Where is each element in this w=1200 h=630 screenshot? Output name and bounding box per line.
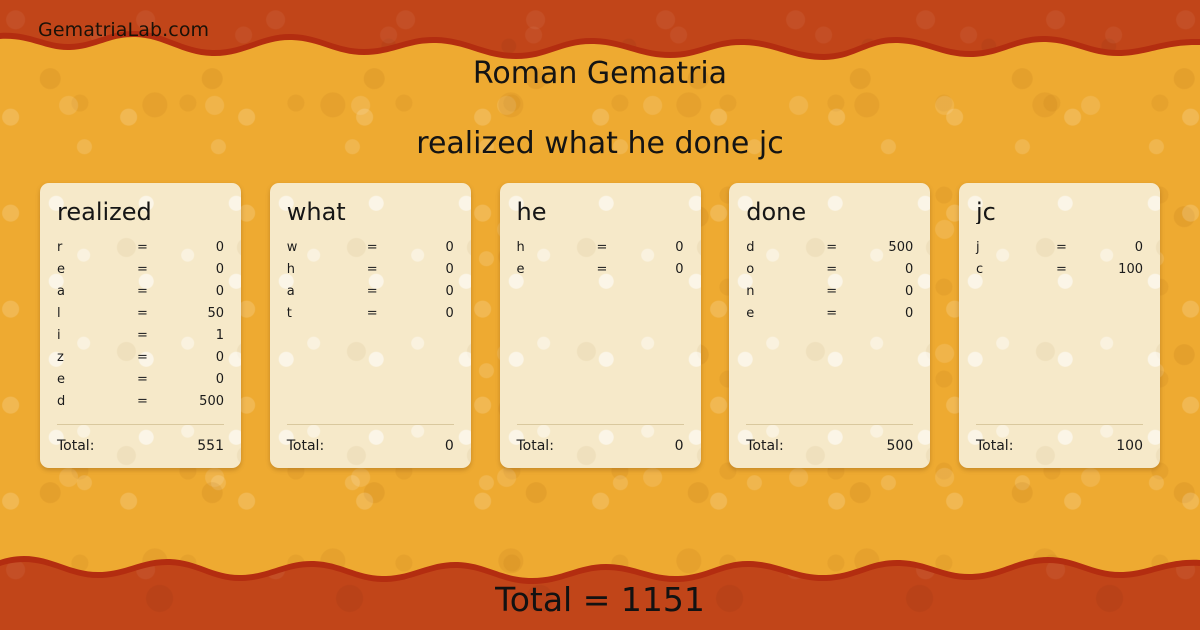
letter-value: 0 bbox=[1091, 240, 1143, 255]
letter: o bbox=[746, 262, 802, 277]
letter: w bbox=[287, 240, 343, 255]
card-total-row: Total: 0 bbox=[517, 425, 684, 468]
letter-value: 0 bbox=[861, 306, 913, 321]
letter-value: 0 bbox=[172, 372, 224, 387]
card-total-row: Total: 0 bbox=[287, 425, 454, 468]
letter-value: 0 bbox=[861, 284, 913, 299]
equals-sign: = bbox=[113, 328, 172, 343]
letter-value-row: d = 500 bbox=[57, 394, 224, 416]
letter: e bbox=[57, 372, 113, 387]
letter-value-row: r = 0 bbox=[57, 240, 224, 262]
letter-value-row: a = 0 bbox=[57, 284, 224, 306]
letter: e bbox=[746, 306, 802, 321]
equals-sign: = bbox=[113, 284, 172, 299]
letter-value: 0 bbox=[172, 350, 224, 365]
equals-sign: = bbox=[113, 394, 172, 409]
letter: n bbox=[746, 284, 802, 299]
letter-value-row: w = 0 bbox=[287, 240, 454, 262]
word-card-title: realized bbox=[57, 200, 224, 224]
equals-sign: = bbox=[573, 262, 632, 277]
letter-value-row: e = 0 bbox=[57, 262, 224, 284]
letter-value-row: h = 0 bbox=[287, 262, 454, 284]
card-total-row: Total: 500 bbox=[746, 425, 913, 468]
letter-value: 0 bbox=[172, 284, 224, 299]
equals-sign: = bbox=[343, 306, 402, 321]
letter-value: 500 bbox=[172, 394, 224, 409]
letter: i bbox=[57, 328, 113, 343]
grand-total: Total = 1151 bbox=[0, 580, 1200, 619]
equals-sign: = bbox=[802, 284, 861, 299]
card-total-value: 0 bbox=[445, 438, 454, 454]
card-total-value: 500 bbox=[887, 438, 914, 454]
letter-value: 0 bbox=[402, 262, 454, 277]
letter-value-row: e = 0 bbox=[746, 306, 913, 328]
word-card: jc j = 0 c = 100 Total: 100 bbox=[959, 183, 1160, 468]
letter-value-row: t = 0 bbox=[287, 306, 454, 328]
equals-sign: = bbox=[1032, 262, 1091, 277]
equals-sign: = bbox=[113, 372, 172, 387]
card-total-row: Total: 551 bbox=[57, 425, 224, 468]
equals-sign: = bbox=[1032, 240, 1091, 255]
letter-value: 0 bbox=[172, 240, 224, 255]
letter-value: 0 bbox=[402, 284, 454, 299]
letter: j bbox=[976, 240, 1032, 255]
equals-sign: = bbox=[113, 306, 172, 321]
word-card: realized r = 0 e = 0 a = 0 l bbox=[40, 183, 241, 468]
letter-value: 50 bbox=[172, 306, 224, 321]
letter-value: 0 bbox=[632, 262, 684, 277]
word-cards-container: realized r = 0 e = 0 a = 0 l bbox=[40, 183, 1160, 468]
letter: a bbox=[57, 284, 113, 299]
letter-value-list: w = 0 h = 0 a = 0 t = 0 bbox=[287, 240, 454, 424]
card-total-label: Total: bbox=[976, 438, 1013, 454]
letter: l bbox=[57, 306, 113, 321]
letter-value: 0 bbox=[861, 262, 913, 277]
site-watermark: GematriaLab.com bbox=[38, 19, 209, 41]
equals-sign: = bbox=[573, 240, 632, 255]
letter-value-row: c = 100 bbox=[976, 262, 1143, 284]
letter-value-row: a = 0 bbox=[287, 284, 454, 306]
letter-value-list: j = 0 c = 100 bbox=[976, 240, 1143, 424]
letter: a bbox=[287, 284, 343, 299]
heading-block: Roman Gematria realized what he done jc bbox=[0, 56, 1200, 162]
word-card-title: jc bbox=[976, 200, 1143, 224]
letter-value: 500 bbox=[861, 240, 913, 255]
letter-value-row: e = 0 bbox=[517, 262, 684, 284]
card-total-label: Total: bbox=[287, 438, 324, 454]
letter-value-row: e = 0 bbox=[57, 372, 224, 394]
letter: e bbox=[57, 262, 113, 277]
letter-value: 0 bbox=[402, 306, 454, 321]
equals-sign: = bbox=[113, 262, 172, 277]
phrase-title: realized what he done jc bbox=[0, 92, 1200, 162]
card-total-row: Total: 100 bbox=[976, 425, 1143, 468]
letter-value-list: h = 0 e = 0 bbox=[517, 240, 684, 424]
letter-value: 0 bbox=[402, 240, 454, 255]
equals-sign: = bbox=[113, 350, 172, 365]
equals-sign: = bbox=[343, 240, 402, 255]
word-card-title: he bbox=[517, 200, 684, 224]
word-card-title: done bbox=[746, 200, 913, 224]
card-total-value: 0 bbox=[675, 438, 684, 454]
letter-value-row: o = 0 bbox=[746, 262, 913, 284]
cipher-title: Roman Gematria bbox=[0, 56, 1200, 92]
card-total-label: Total: bbox=[517, 438, 554, 454]
card-total-label: Total: bbox=[57, 438, 94, 454]
card-total-label: Total: bbox=[746, 438, 783, 454]
equals-sign: = bbox=[802, 306, 861, 321]
letter: d bbox=[57, 394, 113, 409]
letter-value-row: j = 0 bbox=[976, 240, 1143, 262]
equals-sign: = bbox=[343, 284, 402, 299]
word-card-title: what bbox=[287, 200, 454, 224]
letter: r bbox=[57, 240, 113, 255]
card-total-value: 551 bbox=[197, 438, 224, 454]
letter: h bbox=[517, 240, 573, 255]
letter: h bbox=[287, 262, 343, 277]
letter: d bbox=[746, 240, 802, 255]
letter: e bbox=[517, 262, 573, 277]
gematria-poster: GematriaLab.com Roman Gematria realized … bbox=[0, 0, 1200, 630]
letter-value-row: i = 1 bbox=[57, 328, 224, 350]
equals-sign: = bbox=[113, 240, 172, 255]
word-card: he h = 0 e = 0 Total: 0 bbox=[500, 183, 701, 468]
letter: t bbox=[287, 306, 343, 321]
equals-sign: = bbox=[343, 262, 402, 277]
word-card: done d = 500 o = 0 n = 0 e bbox=[729, 183, 930, 468]
word-card: what w = 0 h = 0 a = 0 t bbox=[270, 183, 471, 468]
equals-sign: = bbox=[802, 240, 861, 255]
letter-value: 0 bbox=[632, 240, 684, 255]
card-total-value: 100 bbox=[1116, 438, 1143, 454]
letter-value: 100 bbox=[1091, 262, 1143, 277]
letter-value-row: h = 0 bbox=[517, 240, 684, 262]
letter-value: 0 bbox=[172, 262, 224, 277]
letter-value-row: d = 500 bbox=[746, 240, 913, 262]
equals-sign: = bbox=[802, 262, 861, 277]
letter-value-row: l = 50 bbox=[57, 306, 224, 328]
letter-value-list: d = 500 o = 0 n = 0 e = 0 bbox=[746, 240, 913, 424]
letter-value-list: r = 0 e = 0 a = 0 l = 50 bbox=[57, 240, 224, 424]
letter: z bbox=[57, 350, 113, 365]
letter: c bbox=[976, 262, 1032, 277]
letter-value: 1 bbox=[172, 328, 224, 343]
letter-value-row: z = 0 bbox=[57, 350, 224, 372]
letter-value-row: n = 0 bbox=[746, 284, 913, 306]
